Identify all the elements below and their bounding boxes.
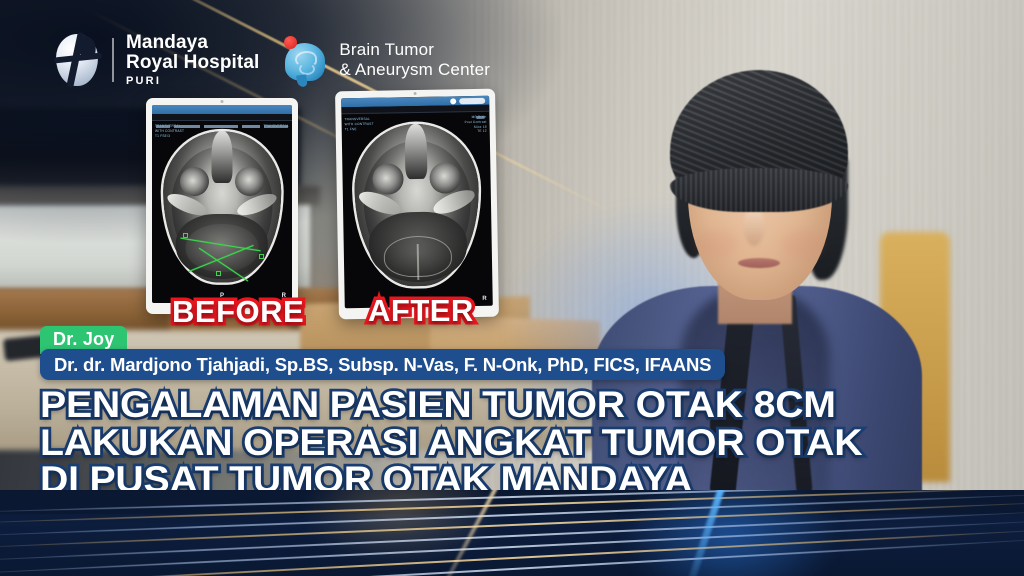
brain-icon [281, 35, 329, 85]
patient-cheek-left [696, 230, 738, 258]
thumbnail-canvas: Mandaya Royal Hospital PURI Brain Tumor … [0, 0, 1024, 576]
after-mri-image [341, 112, 492, 299]
dicom-toolbar [152, 105, 292, 114]
logo-divider [112, 38, 114, 82]
patient-beanie-brim [670, 168, 848, 212]
after-scan-screen: TRANSVERSAL WITH CONTRAST T1 FSE MR Brai… [341, 96, 493, 309]
before-dicom-top-left: TRANSVERSAL WITH CONTRAST T1 FSE/3 [155, 124, 184, 138]
center-name: Brain Tumor & Aneurysm Center [339, 40, 490, 80]
before-scan-screen: TRANSVERSAL WITH CONTRAST T1 FSE/3 TRANS… [152, 105, 292, 303]
after-orientation-right: R [482, 296, 486, 302]
dicom-edit-study-button[interactable] [459, 97, 485, 103]
measurement-marker [216, 271, 221, 276]
after-dicom-top-left: TRANSVERSAL WITH CONTRAST T1 FSE [344, 117, 373, 132]
dicom-settings-icon[interactable] [450, 98, 456, 104]
brand-header: Mandaya Royal Hospital PURI Brain Tumor … [56, 33, 490, 88]
before-dicom-top-right: TRANSVERSAL [263, 124, 289, 129]
patient-nose [744, 208, 764, 246]
before-mri-image [152, 121, 292, 293]
measurement-marker [259, 254, 264, 259]
tablet-camera [221, 100, 224, 103]
after-label: AFTER [368, 293, 474, 329]
speaker-name-text: Dr. dr. Mardjono Tjahjadi, Sp.BS, Subsp.… [54, 354, 711, 376]
hospital-name: Mandaya Royal Hospital PURI [126, 33, 259, 88]
patient-cheek-right [780, 230, 822, 258]
after-dicom-top-right: MR Brain Post Contrast Slice 18 TE 12 [465, 115, 487, 135]
center-name-line2: & Aneurysm Center [339, 60, 490, 80]
headline: PENGALAMAN PASIEN TUMOR OTAK 8CM LAKUKAN… [40, 386, 1024, 499]
hospital-name-line2: Royal Hospital [126, 53, 259, 73]
patient-mouth [738, 258, 780, 268]
before-label: BEFORE [172, 294, 304, 330]
mandaya-shield-icon [56, 34, 98, 86]
bottom-wave-band [0, 490, 1024, 576]
before-scan-tablet: TRANSVERSAL WITH CONTRAST T1 FSE/3 TRANS… [146, 98, 298, 314]
measurement-marker [183, 233, 188, 238]
speaker-name-banner: Dr. dr. Mardjono Tjahjadi, Sp.BS, Subsp.… [40, 349, 725, 380]
hospital-name-line1: Mandaya [126, 33, 259, 53]
headline-line-1: PENGALAMAN PASIEN TUMOR OTAK 8CM [40, 386, 1024, 424]
tablet-camera [414, 92, 417, 95]
headline-line-2: LAKUKAN OPERASI ANGKAT TUMOR OTAK [40, 424, 1024, 462]
center-name-line1: Brain Tumor [339, 40, 490, 60]
hospital-branch: PURI [126, 76, 259, 88]
dicom-infobar [152, 114, 292, 121]
after-scan-tablet: TRANSVERSAL WITH CONTRAST T1 FSE MR Brai… [335, 89, 499, 320]
